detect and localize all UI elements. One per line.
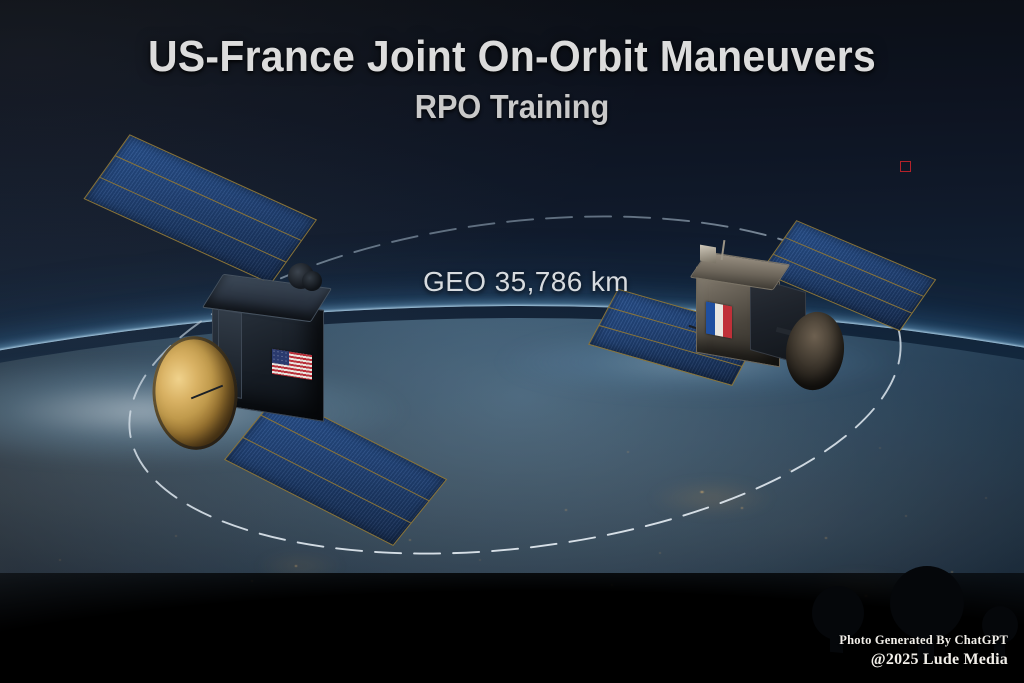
- satellite-us[interactable]: [90, 205, 470, 525]
- satellite-france[interactable]: [600, 200, 930, 430]
- top-equipment-box-fr: [700, 245, 716, 264]
- credit-line-owner: @2025 Lude Media: [839, 649, 1008, 671]
- orbit-altitude-text: GEO 35,786 km: [423, 266, 629, 298]
- orbit-altitude-label: GEO 35,786 km: [0, 266, 1024, 298]
- title-block: US-France Joint On-Orbit Maneuvers RPO T…: [0, 34, 1024, 124]
- scene-canvas: US-France Joint On-Orbit Maneuvers RPO T…: [0, 0, 1024, 683]
- france-flag-decal: [706, 301, 732, 338]
- target-marker-icon: [900, 161, 911, 172]
- solar-array-lower-right: [224, 393, 447, 546]
- page-subtitle: RPO Training: [36, 90, 988, 124]
- credit-watermark: Photo Generated By ChatGPT @2025 Lude Me…: [839, 631, 1008, 671]
- credit-line-generator: Photo Generated By ChatGPT: [839, 631, 1008, 650]
- page-title: US-France Joint On-Orbit Maneuvers: [36, 34, 988, 80]
